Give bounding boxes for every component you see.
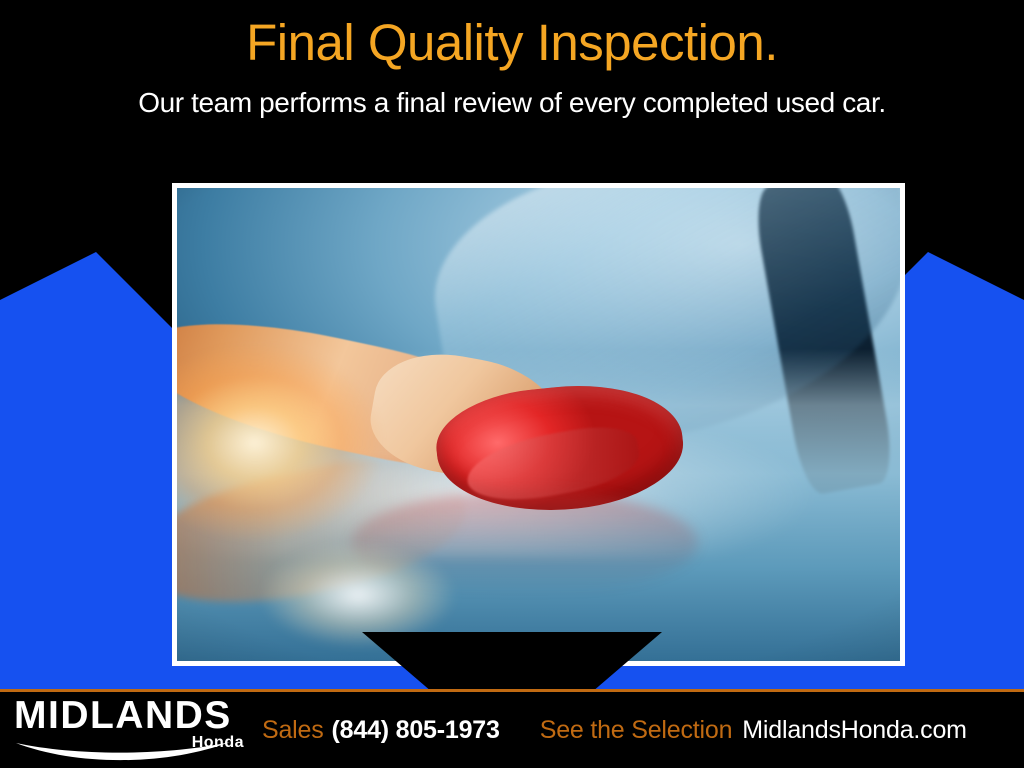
promo-poster: Final Quality Inspection. Our team perfo… xyxy=(0,0,1024,768)
website-link[interactable]: MidlandsHonda.com xyxy=(742,716,967,745)
hero-photo xyxy=(177,188,900,661)
phone-number[interactable]: (844) 805-1973 xyxy=(332,716,500,745)
sales-label: Sales xyxy=(262,716,324,745)
page-title: Final Quality Inspection. xyxy=(0,14,1024,72)
page-subtitle: Our team performs a final review of ever… xyxy=(0,86,1024,120)
dealer-logo-sub: Honda xyxy=(192,734,244,752)
footer-contact-info: Sales (844) 805-1973 See the Selection M… xyxy=(262,692,967,768)
see-selection-label: See the Selection xyxy=(540,716,733,745)
photo-vignette xyxy=(177,188,900,661)
photo-frame xyxy=(172,183,905,666)
dealer-logo-name: MIDLANDS xyxy=(14,696,250,736)
dealer-logo: MIDLANDS Honda xyxy=(14,696,250,764)
footer-bar: MIDLANDS Honda Sales (844) 805-1973 See … xyxy=(0,692,1024,768)
